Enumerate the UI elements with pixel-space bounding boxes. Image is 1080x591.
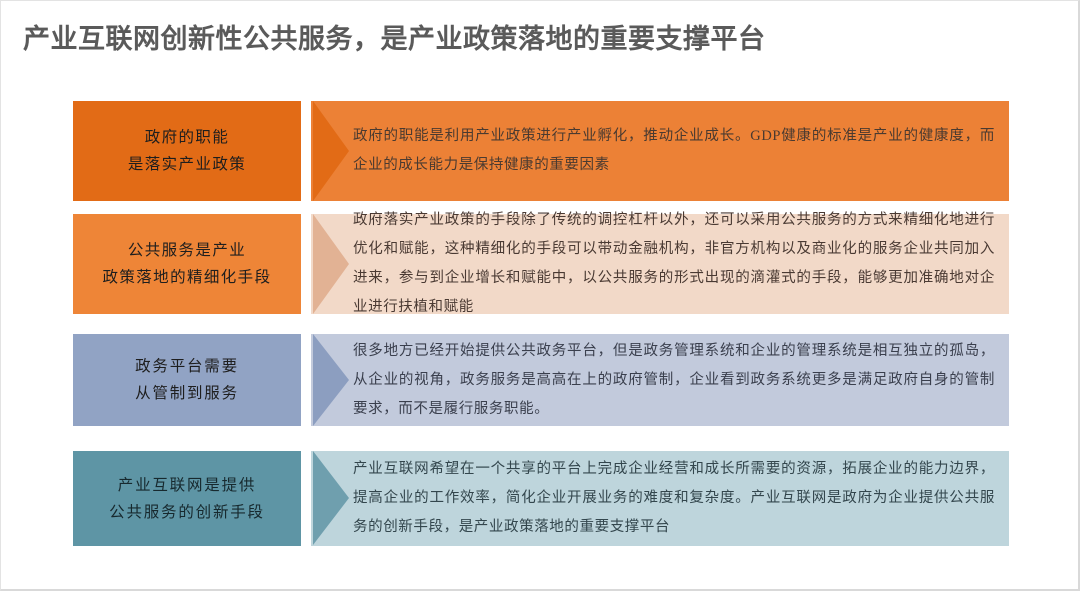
row-label-text: 产业互联网是提供 公共服务的创新手段 (109, 472, 265, 526)
title-bar: 产业互联网创新性公共服务，是产业政策落地的重要支撑平台 (23, 19, 1053, 65)
row-body-text: 政府的职能是利用产业政策进行产业孵化，推动企业成长。GDP健康的标准是产业的健康… (353, 101, 995, 201)
row-body-text-value: 政府的职能是利用产业政策进行产业孵化，推动企业成长。GDP健康的标准是产业的健康… (353, 122, 995, 180)
row-label-box[interactable]: 公共服务是产业 政策落地的精细化手段 (73, 214, 301, 314)
row-label-box[interactable]: 产业互联网是提供 公共服务的创新手段 (73, 451, 301, 546)
chevron-right-icon (313, 334, 349, 426)
row-body-text: 政府落实产业政策的手段除了传统的调控杠杆以外，还可以采用公共服务的方式来精细化地… (353, 214, 995, 314)
slide-canvas: 产业互联网创新性公共服务，是产业政策落地的重要支撑平台 政府的职能是利用产业政策… (0, 0, 1080, 591)
chevron-right-icon (313, 101, 349, 201)
row-content-panel: 产业互联网希望在一个共享的平台上完成企业经营和成长所需要的资源，拓展企业的能力边… (311, 451, 1009, 546)
row-content-panel: 很多地方已经开始提供公共政务平台，但是政务管理系统和企业的管理系统是相互独立的孤… (311, 334, 1009, 426)
process-row: 政府的职能是利用产业政策进行产业孵化，推动企业成长。GDP健康的标准是产业的健康… (73, 101, 1009, 201)
process-row: 政府落实产业政策的手段除了传统的调控杠杆以外，还可以采用公共服务的方式来精细化地… (73, 214, 1009, 314)
row-body-text-value: 政府落实产业政策的手段除了传统的调控杠杆以外，还可以采用公共服务的方式来精细化地… (353, 206, 995, 322)
chevron-right-icon (313, 451, 349, 546)
row-body-text: 产业互联网希望在一个共享的平台上完成企业经营和成长所需要的资源，拓展企业的能力边… (353, 451, 995, 546)
row-body-text-value: 很多地方已经开始提供公共政务平台，但是政务管理系统和企业的管理系统是相互独立的孤… (353, 337, 995, 424)
row-label-box[interactable]: 政务平台需要 从管制到服务 (73, 334, 301, 426)
chevron-right-icon (313, 214, 349, 314)
row-label-text: 公共服务是产业 政策落地的精细化手段 (102, 237, 271, 291)
row-content-panel: 政府的职能是利用产业政策进行产业孵化，推动企业成长。GDP健康的标准是产业的健康… (311, 101, 1009, 201)
row-body-text-value: 产业互联网希望在一个共享的平台上完成企业经营和成长所需要的资源，拓展企业的能力边… (353, 455, 995, 542)
row-content-panel: 政府落实产业政策的手段除了传统的调控杠杆以外，还可以采用公共服务的方式来精细化地… (311, 214, 1009, 314)
page-title: 产业互联网创新性公共服务，是产业政策落地的重要支撑平台 (23, 19, 1053, 59)
process-row: 很多地方已经开始提供公共政务平台，但是政务管理系统和企业的管理系统是相互独立的孤… (73, 334, 1009, 426)
process-row: 产业互联网希望在一个共享的平台上完成企业经营和成长所需要的资源，拓展企业的能力边… (73, 451, 1009, 546)
row-label-text: 政府的职能 是落实产业政策 (128, 124, 246, 178)
row-body-text: 很多地方已经开始提供公共政务平台，但是政务管理系统和企业的管理系统是相互独立的孤… (353, 334, 995, 426)
row-label-text: 政务平台需要 从管制到服务 (135, 353, 239, 407)
row-label-box[interactable]: 政府的职能 是落实产业政策 (73, 101, 301, 201)
